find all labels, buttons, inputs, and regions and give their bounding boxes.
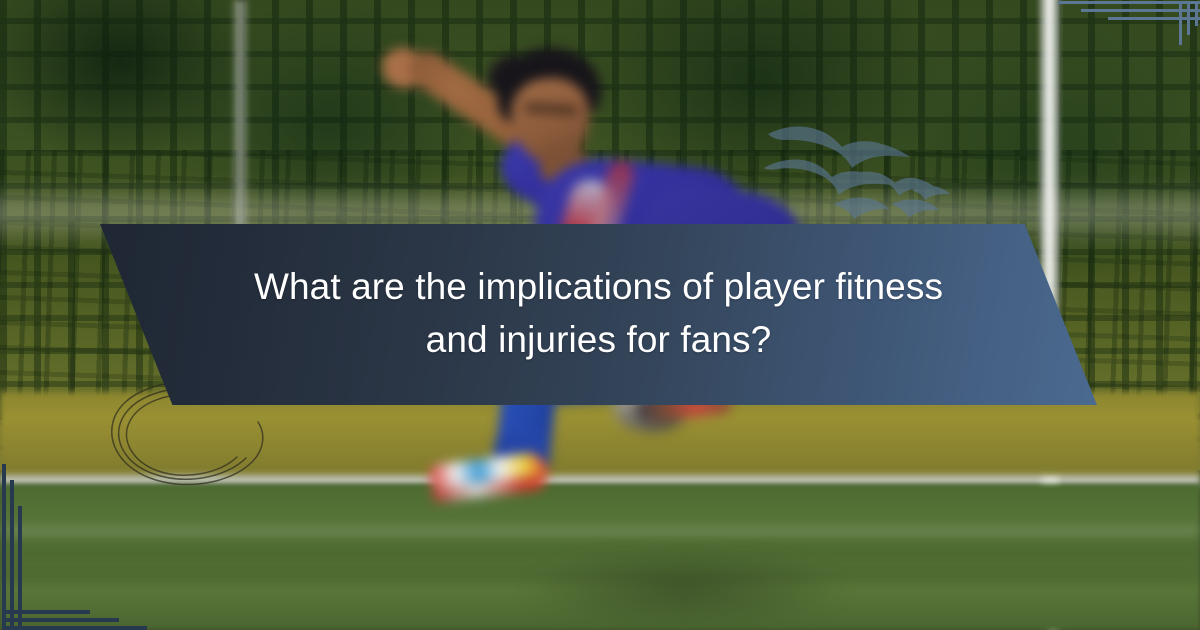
bracket-line-horizontal — [2, 626, 147, 630]
bracket-line-vertical — [1179, 1, 1182, 45]
bracket-line-vertical — [10, 480, 14, 628]
quote-panel-background — [96, 224, 1101, 405]
social-quote-card: What are the implications of player fitn… — [0, 0, 1200, 630]
bracket-line-horizontal — [1081, 9, 1200, 12]
bird-flock-silhouette — [762, 120, 952, 225]
corner-bracket-top-right — [1050, 0, 1200, 60]
bracket-line-vertical — [1187, 1, 1190, 35]
bracket-line-horizontal — [2, 610, 90, 614]
bracket-line-vertical — [1195, 1, 1198, 26]
bracket-line-horizontal — [2, 618, 119, 622]
bracket-line-vertical — [2, 464, 6, 628]
corner-bracket-bottom-left — [0, 460, 160, 630]
